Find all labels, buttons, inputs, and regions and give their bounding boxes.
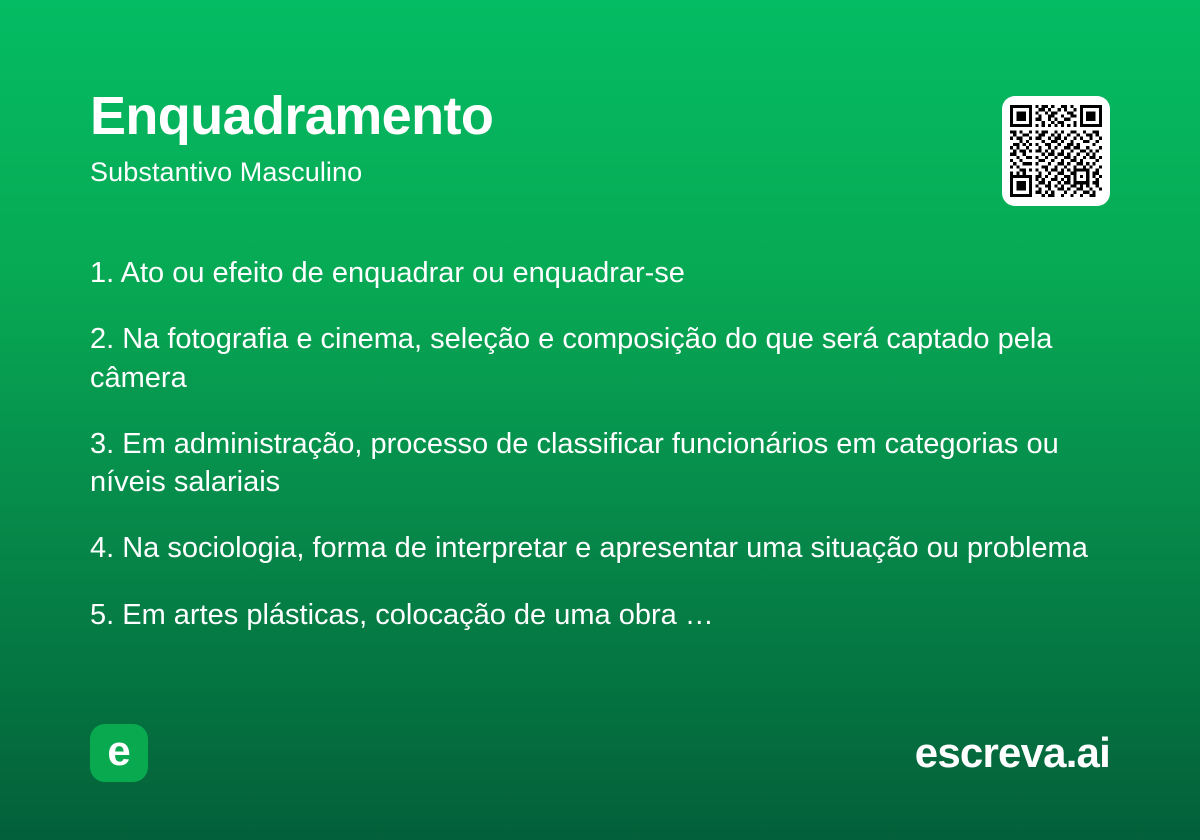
list-item: 2. Na fotografia e cinema, seleção e com… (90, 320, 1110, 397)
list-item: 1. Ato ou efeito de enquadrar ou enquadr… (90, 254, 1110, 292)
word-class-label: Substantivo Masculino (90, 157, 1110, 188)
card-footer: e escreva.ai (90, 724, 1110, 782)
qr-code[interactable] (1002, 96, 1110, 206)
list-item: 4. Na sociologia, forma de interpretar e… (90, 529, 1110, 567)
brand-wordmark: escreva.ai (915, 729, 1110, 777)
card-header: Enquadramento Substantivo Masculino (90, 88, 1110, 208)
list-item: 3. Em administração, processo de classif… (90, 425, 1110, 502)
list-item: 5. Em artes plásticas, colocação de uma … (90, 596, 1110, 634)
page-title: Enquadramento (90, 88, 1110, 145)
definition-list: 1. Ato ou efeito de enquadrar ou enquadr… (90, 254, 1110, 634)
word-definition-card: Enquadramento Substantivo Masculino (0, 0, 1200, 840)
qr-code-icon (1010, 104, 1102, 198)
logo-letter: e (107, 730, 130, 772)
escreva-logo-icon: e (90, 724, 148, 782)
